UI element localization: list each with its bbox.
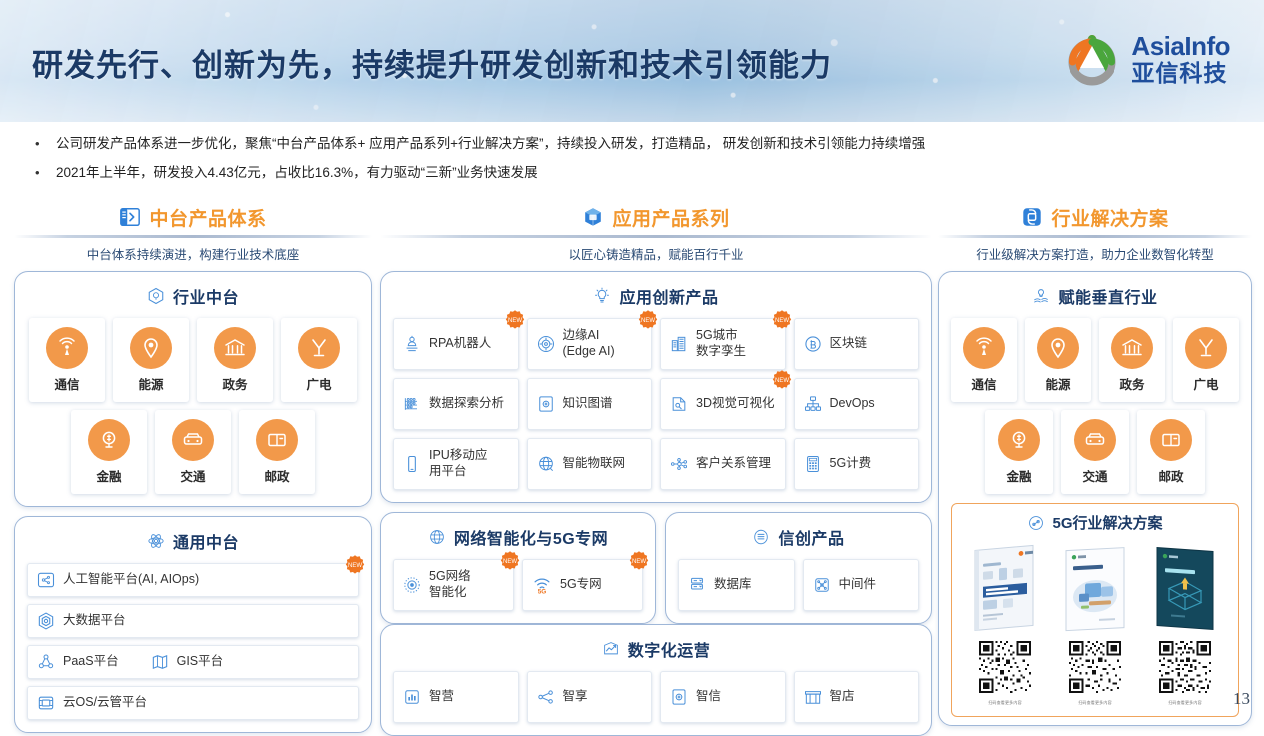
column-title-right: 行业解决方案: [1051, 204, 1168, 231]
dollar-coin-icon: [998, 419, 1040, 461]
tile-label: 能源: [138, 374, 163, 393]
city-building-icon: [669, 334, 689, 354]
panel-title-xinchuang: 信创产品: [678, 525, 919, 549]
qr-caption: 扫码查看更多内容: [1069, 700, 1121, 706]
tile-industry[interactable]: 广电: [1173, 318, 1239, 402]
brochure-cover-1: [969, 543, 1041, 635]
product-label: 数据库: [714, 577, 752, 593]
product-card-crm[interactable]: 客户关系管理: [660, 438, 786, 490]
panel-title-text: 赋能垂直行业: [1058, 284, 1157, 308]
panel-title-text: 通用中台: [173, 529, 239, 553]
qr-code-icon: [1069, 641, 1121, 693]
location-pin-icon: [130, 327, 172, 369]
tile-label: 交通: [180, 466, 205, 485]
wifi-5g-icon: 5G: [531, 574, 553, 596]
signal-tower-icon: [963, 327, 1005, 369]
tile-industry[interactable]: 能源: [1025, 318, 1091, 402]
data-analysis-icon: [402, 394, 422, 414]
product-label: 智店: [830, 689, 855, 705]
government-bank-icon: [1111, 327, 1153, 369]
panel-title-innovation: 应用创新产品: [393, 284, 919, 308]
share-node-icon: [536, 687, 556, 707]
panel-title-digital-ops: 数字化运营: [393, 637, 919, 661]
solution-box-5g: 5G行业解决方案: [951, 503, 1239, 717]
tile-industry[interactable]: 广电: [281, 318, 357, 402]
tile-label: 通信: [54, 374, 79, 393]
network-product-grid: 5G网络 智能化 NEW 5G 5G专网 NEW: [393, 559, 643, 611]
tile-label: 邮政: [264, 466, 289, 485]
bullet-list: • 公司研发产品体系进一步优化，聚焦“中台产品体系+ 应用产品系列+行业解决方案…: [30, 134, 1240, 193]
tile-label: 交通: [1082, 466, 1107, 485]
middle-dual-panels: 网络智能化与5G专网 5G网络 智能化 NEW 5G: [380, 512, 932, 624]
panel-industry-platform: 行业中台 通信 能源: [14, 271, 372, 507]
product-label: 智信: [696, 689, 721, 705]
product-label: 中间件: [839, 577, 877, 593]
product-label: 客户关系管理: [696, 456, 771, 472]
product-card-ipu-mobile[interactable]: IPU移动应 用平台: [393, 438, 519, 490]
panel-title-text: 数字化运营: [628, 637, 711, 661]
product-label: 5G计费: [830, 456, 872, 472]
page-title: 研发先行、创新为先，持续提升研发创新和技术引领能力: [32, 40, 832, 85]
qr-code-icon: [1159, 641, 1211, 693]
new-badge: NEW: [770, 369, 794, 393]
tile-row: 通信 能源 政务 广电: [951, 318, 1239, 402]
bullet-marker: •: [30, 163, 56, 183]
product-label: DevOps: [830, 396, 875, 412]
product-card-data-analysis[interactable]: 数据探索分析: [393, 378, 519, 430]
hand-bulb-icon: [1032, 287, 1050, 305]
platform-icon: [119, 206, 141, 228]
shield-hex-icon: [147, 287, 165, 305]
blockchain-bitcoin-icon: [803, 334, 823, 354]
product-card-5g-city-twin[interactable]: 5G城市 数字孪生 NEW: [660, 318, 786, 370]
broadcast-antenna-icon: [298, 327, 340, 369]
product-card-3d-visual[interactable]: 3D视觉可视化 NEW: [660, 378, 786, 430]
solution-box-title: 5G行业解决方案: [960, 512, 1230, 533]
list-item-paas-gis[interactable]: PaaS平台 GIS平台: [27, 645, 359, 679]
bar-chart-icon: [402, 687, 422, 707]
brochure-cover-3: [1149, 543, 1221, 635]
product-label: 5G专网: [560, 577, 602, 593]
trend-chart-icon: [602, 640, 620, 658]
asiainfo-logo: AsiaInfo 亚信科技: [1063, 30, 1230, 88]
column-header-left: 中台产品体系: [14, 203, 372, 231]
product-card-rpa[interactable]: RPA机器人 NEW: [393, 318, 519, 370]
tile-row: 金融 交通 邮政: [951, 410, 1239, 494]
tile-row: 通信 能源 政务 广电: [27, 318, 359, 402]
product-card-zhiying[interactable]: 智营: [393, 671, 519, 723]
bullet-item: • 2021年上半年，研发投入4.43亿元，占收比16.3%，有力驱动“三新”业…: [30, 163, 1240, 183]
crm-network-icon: [669, 454, 689, 474]
product-label: 5G网络 智能化: [429, 569, 471, 600]
panel-title-network: 网络智能化与5G专网: [393, 525, 643, 549]
product-label: 数据探索分析: [429, 396, 504, 412]
product-label: IPU移动应 用平台: [429, 448, 487, 479]
svg-text:NEW: NEW: [348, 563, 362, 569]
devops-tree-icon: [803, 394, 823, 414]
column-title-left: 中台产品体系: [149, 204, 266, 231]
knowledge-graph-icon: [536, 394, 556, 414]
tile-label: 金融: [96, 466, 121, 485]
list-item-label: GIS平台: [177, 654, 224, 670]
list-item-ai-platform[interactable]: 人工智能平台(AI, AIOps) NEW: [27, 563, 359, 597]
bigdata-hex-icon: [36, 611, 56, 631]
solution-box-title-text: 5G行业解决方案: [1052, 512, 1162, 533]
smart-trust-icon: [669, 687, 689, 707]
column-industry-solutions: 行业解决方案 行业级解决方案打造，助力企业数智化转型 赋能垂直行业 通信: [938, 203, 1252, 726]
3d-visual-icon: [669, 394, 689, 414]
product-card-knowledge-graph[interactable]: 知识图谱: [527, 378, 653, 430]
ai-share-icon: [36, 570, 56, 590]
panel-network-5g: 网络智能化与5G专网 5G网络 智能化 NEW 5G: [380, 512, 656, 624]
gis-map-icon: [150, 652, 170, 672]
qr-block-2: 扫码查看更多内容: [1069, 641, 1121, 706]
list-item-bigdata-platform[interactable]: 大数据平台: [27, 604, 359, 638]
tile-industry[interactable]: 政务: [1099, 318, 1165, 402]
svg-text:NEW: NEW: [775, 318, 789, 324]
tile-label: 金融: [1006, 466, 1031, 485]
brochure-cover-2: [1059, 543, 1131, 635]
panel-title-vertical: 赋能垂直行业: [951, 284, 1239, 308]
three-column-layout: 中台产品体系 中台体系持续演进，构建行业技术底座 行业中台: [0, 203, 1264, 708]
panel-title-text: 应用创新产品: [619, 284, 718, 308]
svg-text:NEW: NEW: [503, 559, 517, 565]
page-number: 13: [1233, 689, 1250, 709]
mobile-phone-icon: [402, 454, 422, 474]
billing-calculator-icon: [803, 454, 823, 474]
government-bank-icon: [214, 327, 256, 369]
product-label: 智营: [429, 689, 454, 705]
location-pin-icon: [1037, 327, 1079, 369]
svg-text:5G: 5G: [538, 588, 547, 595]
product-card-5g-network-intel[interactable]: 5G网络 智能化 NEW: [393, 559, 514, 611]
list-item-label: 大数据平台: [63, 613, 126, 629]
tile-industry[interactable]: 交通: [155, 410, 231, 494]
list-item-cloud-os[interactable]: 云OS/云管平台: [27, 686, 359, 720]
column-subtitle-right: 行业级解决方案打造，助力企业数智化转型: [938, 244, 1252, 263]
innovation-product-grid: RPA机器人 NEW 边缘AI (Edge AI) NEW: [393, 318, 919, 490]
signal-tower-icon: [46, 327, 88, 369]
iot-globe-icon: [536, 454, 556, 474]
column-header-right: 行业解决方案: [938, 203, 1252, 231]
document-stack-icon: [752, 528, 770, 546]
tile-label: 广电: [1193, 374, 1218, 393]
network-target-icon: [402, 575, 422, 595]
atom-icon: [147, 532, 165, 550]
column-application-products: 应用产品系列 以匠心铸造精品，赋能百行千业 应用创新产品 RPA机器人: [380, 203, 932, 736]
column-platform-products: 中台产品体系 中台体系持续演进，构建行业技术底座 行业中台: [14, 203, 372, 733]
panel-title-text: 信创产品: [778, 525, 844, 549]
panel-title-general: 通用中台: [27, 529, 359, 553]
qr-caption: 扫码查看更多内容: [979, 700, 1031, 706]
asiainfo-logo-mark: [1063, 30, 1121, 88]
product-card-iot[interactable]: 智能物联网: [527, 438, 653, 490]
tile-label: 政务: [1119, 374, 1144, 393]
tile-industry[interactable]: 政务: [197, 318, 273, 402]
product-card-5g-billing[interactable]: 5G计费: [794, 438, 920, 490]
product-card-zhixin[interactable]: 智信: [660, 671, 786, 723]
divider-middle: [380, 235, 932, 238]
list-item-label: PaaS平台: [63, 654, 119, 670]
list-item-label: 人工智能平台(AI, AIOps): [63, 572, 199, 588]
qr-row: 扫码查看更多内容: [960, 641, 1230, 706]
paas-cube-icon: [36, 652, 56, 672]
svg-text:NEW: NEW: [632, 559, 646, 565]
panel-general-platform: 通用中台 人工智能平台(AI, AIOps) NEW 大数据平台: [14, 516, 372, 733]
mailbox-icon: [1150, 419, 1192, 461]
tile-industry[interactable]: 通信: [951, 318, 1017, 402]
panel-title-industry: 行业中台: [27, 284, 359, 308]
tile-industry[interactable]: 邮政: [1137, 410, 1205, 494]
store-icon: [803, 687, 823, 707]
product-label: 智享: [563, 689, 588, 705]
edge-ai-icon: [536, 334, 556, 354]
column-header-middle: 应用产品系列: [380, 203, 932, 231]
tile-row: 金融 交通 邮政: [27, 410, 359, 494]
broadcast-antenna-icon: [1185, 327, 1227, 369]
product-label: 智能物联网: [563, 456, 626, 472]
product-card-5g-private-network[interactable]: 5G 5G专网 NEW: [522, 559, 643, 611]
new-badge: NEW: [503, 309, 527, 333]
product-card-database[interactable]: 数据库: [678, 559, 795, 611]
qr-block-3: 扫码查看更多内容: [1159, 641, 1211, 706]
bullet-text: 2021年上半年，研发投入4.43亿元，占收比16.3%，有力驱动“三新”业务快…: [56, 163, 538, 183]
panel-title-text: 行业中台: [173, 284, 239, 308]
product-label: 边缘AI (Edge AI): [563, 328, 615, 359]
cloud-os-icon: [36, 693, 56, 713]
bullet-text: 公司研发产品体系进一步优化，聚焦“中台产品体系+ 应用产品系列+行业解决方案”，…: [56, 134, 925, 154]
svg-text:NEW: NEW: [508, 318, 522, 324]
general-platform-list: 人工智能平台(AI, AIOps) NEW 大数据平台 PaaS平台: [27, 563, 359, 720]
car-icon: [1074, 419, 1116, 461]
bullet-marker: •: [30, 134, 56, 154]
panel-vertical-industries: 赋能垂直行业 通信 能源: [938, 271, 1252, 726]
robot-icon: [402, 334, 422, 354]
tile-label: 能源: [1045, 374, 1070, 393]
qr-caption: 扫码查看更多内容: [1159, 700, 1211, 706]
divider-right: [938, 235, 1252, 238]
logo-text-en: AsiaInfo: [1131, 33, 1230, 59]
tile-label: 通信: [971, 374, 996, 393]
middleware-icon: [812, 575, 832, 595]
header-banner: 研发先行、创新为先，持续提升研发创新和技术引领能力 AsiaInfo 亚信科技: [0, 0, 1264, 122]
new-badge: NEW: [627, 550, 651, 574]
product-label: 3D视觉可视化: [696, 396, 774, 412]
panel-innovation-products: 应用创新产品 RPA机器人 NEW 边缘AI (: [380, 271, 932, 503]
cube-box-icon: [582, 206, 604, 228]
column-title-middle: 应用产品系列: [612, 204, 729, 231]
product-card-zhixiang[interactable]: 智享: [527, 671, 653, 723]
tile-industry[interactable]: 交通: [1061, 410, 1129, 494]
tile-industry[interactable]: 能源: [113, 318, 189, 402]
tile-label: 邮政: [1158, 466, 1183, 485]
product-label: 知识图谱: [563, 396, 613, 412]
tile-industry[interactable]: 金融: [985, 410, 1053, 494]
database-icon: [687, 575, 707, 595]
svg-text:NEW: NEW: [641, 318, 655, 324]
new-badge: NEW: [770, 309, 794, 333]
column-subtitle-left: 中台体系持续演进，构建行业技术底座: [14, 244, 372, 263]
xinchuang-product-grid: 数据库 中间件: [678, 559, 919, 611]
product-card-middleware[interactable]: 中间件: [803, 559, 920, 611]
product-card-zhidian[interactable]: 智店: [794, 671, 920, 723]
product-card-blockchain[interactable]: 区块链: [794, 318, 920, 370]
tile-industry[interactable]: 邮政: [239, 410, 315, 494]
panel-title-text: 网络智能化与5G专网: [454, 525, 608, 549]
tile-industry[interactable]: 通信: [29, 318, 105, 402]
product-label: 区块链: [830, 336, 868, 352]
new-badge: NEW: [498, 550, 522, 574]
lightbulb-icon: [593, 287, 611, 305]
brochure-row: [960, 539, 1230, 635]
divider-left: [14, 235, 372, 238]
new-badge: NEW: [343, 554, 367, 578]
globe-net-icon: [428, 528, 446, 546]
digital-ops-grid: 智营 智享 智信 智店: [393, 671, 919, 723]
product-card-devops[interactable]: DevOps: [794, 378, 920, 430]
panel-digital-operations: 数字化运营 智营 智享: [380, 624, 932, 736]
qr-block-1: 扫码查看更多内容: [979, 641, 1031, 706]
logo-text-cn: 亚信科技: [1131, 62, 1230, 85]
dollar-coin-icon: [88, 419, 130, 461]
panel-xinchuang: 信创产品 数据库 中间件: [665, 512, 932, 624]
tile-industry[interactable]: 金融: [71, 410, 147, 494]
bullet-item: • 公司研发产品体系进一步优化，聚焦“中台产品体系+ 应用产品系列+行业解决方案…: [30, 134, 1240, 154]
product-label: 5G城市 数字孪生: [696, 328, 746, 359]
tile-label: 广电: [306, 374, 331, 393]
solution-square-icon: [1021, 206, 1043, 228]
5g-solution-icon: [1027, 514, 1045, 532]
svg-text:NEW: NEW: [775, 378, 789, 384]
mailbox-icon: [256, 419, 298, 461]
qr-code-icon: [979, 641, 1031, 693]
column-subtitle-middle: 以匠心铸造精品，赋能百行千业: [380, 244, 932, 263]
car-icon: [172, 419, 214, 461]
new-badge: NEW: [636, 309, 660, 333]
list-item-label: 云OS/云管平台: [63, 695, 147, 711]
product-card-edge-ai[interactable]: 边缘AI (Edge AI) NEW: [527, 318, 653, 370]
product-label: RPA机器人: [429, 336, 491, 352]
tile-label: 政务: [222, 374, 247, 393]
